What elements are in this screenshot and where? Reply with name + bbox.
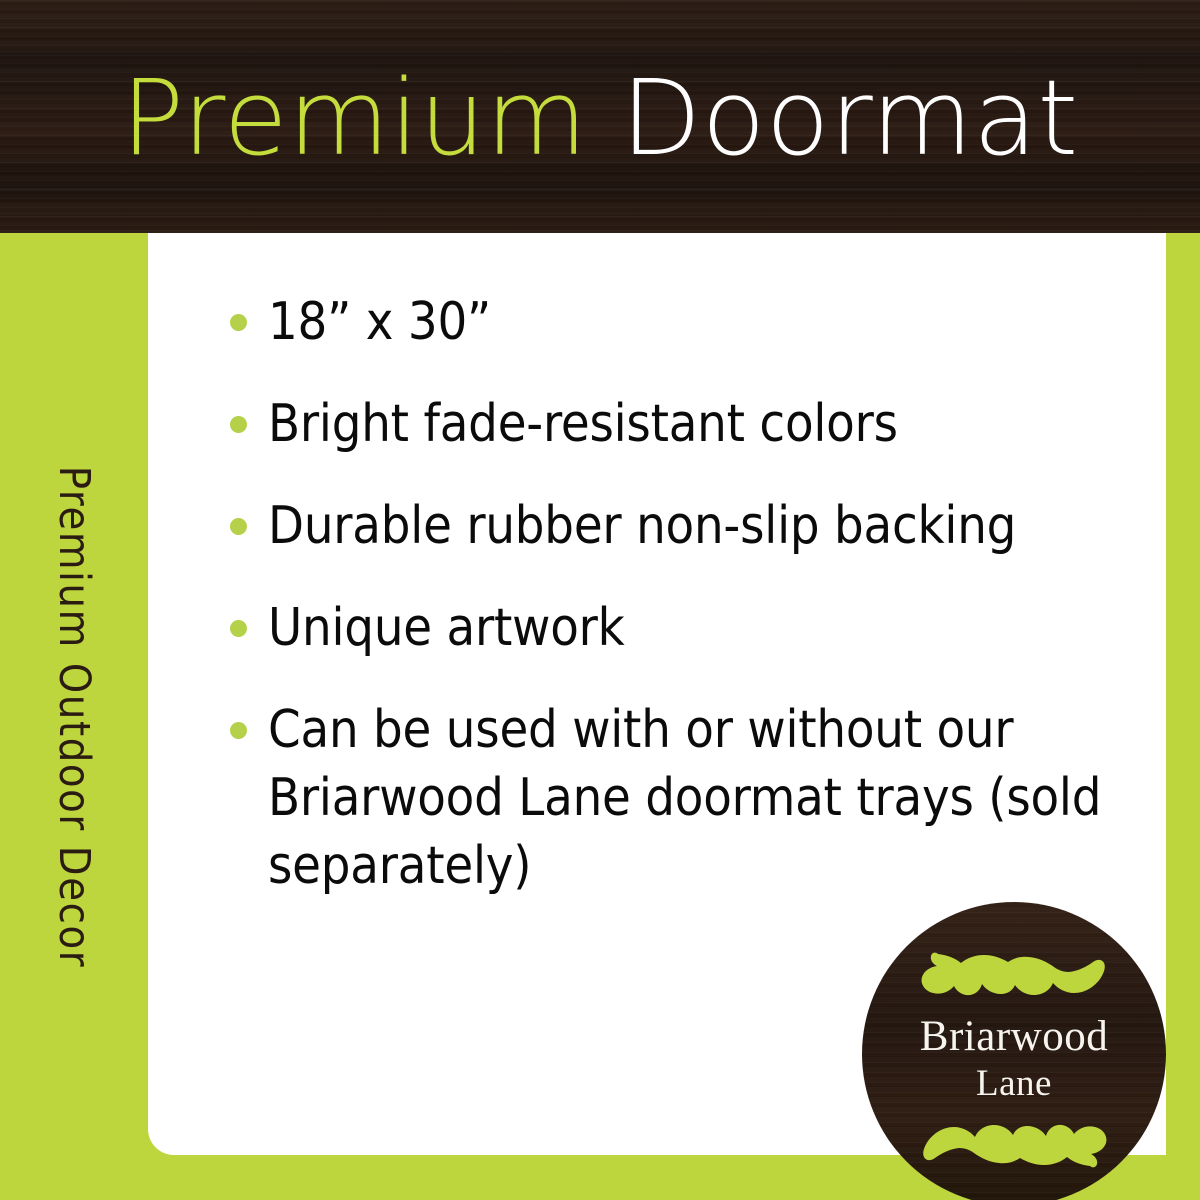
sidebar-label: Premium Outdoor Decor (48, 465, 100, 968)
sidebar-vertical-band: Premium Outdoor Decor (0, 233, 148, 1200)
list-item-label: Unique artwork (268, 598, 625, 658)
bullet-dot-icon (230, 518, 247, 535)
list-item: Durable rubber non-slip backing (228, 492, 1128, 560)
header-wood-band: Premium Doormat (0, 0, 1200, 233)
page-title-accent: Premium (121, 57, 587, 179)
bullet-dot-icon (230, 620, 247, 637)
brand-name-line2: Lane (862, 1062, 1166, 1106)
oak-leaf-icon-top (916, 950, 1112, 1012)
list-item: 18” x 30” (228, 288, 1128, 356)
oak-leaf-icon-bottom (916, 1108, 1112, 1170)
list-item-label: Durable rubber non-slip backing (268, 496, 1016, 556)
list-item: Bright fade-resistant colors (228, 390, 1128, 458)
brand-logo-badge: Briarwood Lane (862, 902, 1166, 1200)
list-item-label: Can be used with or without our Briarwoo… (268, 700, 1101, 896)
bullet-dot-icon (230, 314, 247, 331)
page-title-spacer (588, 57, 622, 179)
list-item-label: 18” x 30” (268, 292, 491, 352)
page-title-plain: Doormat (621, 57, 1079, 179)
list-item: Unique artwork (228, 594, 1128, 662)
product-info-graphic: Premium Doormat Premium Outdoor Decor 18… (0, 0, 1200, 1200)
bullet-dot-icon (230, 722, 247, 739)
list-item-label: Bright fade-resistant colors (268, 394, 898, 454)
brand-name-line1: Briarwood (862, 1012, 1166, 1062)
page-title: Premium Doormat (0, 56, 1200, 180)
feature-list: 18” x 30” Bright fade-resistant colors D… (228, 288, 1128, 900)
brand-wordmark: Briarwood Lane (862, 1012, 1166, 1106)
bullet-dot-icon (230, 416, 247, 433)
list-item: Can be used with or without our Briarwoo… (228, 696, 1128, 900)
